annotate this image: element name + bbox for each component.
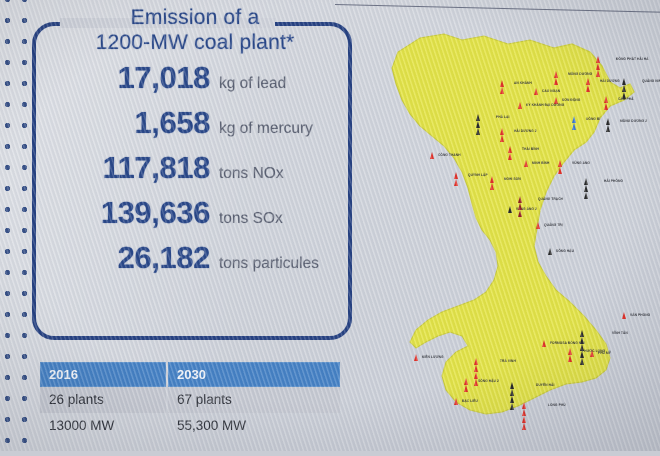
title-line-2: 1200-MW coal plant* <box>45 31 345 56</box>
plant-label: KỲ KHÁNH ĐẠI DƯƠNG <box>526 103 564 107</box>
plant-label: THÁI BÌNH <box>522 147 539 151</box>
dot-column-inner <box>21 0 28 456</box>
stat-row: 1,658 kg of mercury <box>36 105 351 141</box>
table-row: 26 plants 67 plants <box>40 387 340 413</box>
stat-value: 117,818 <box>102 150 210 186</box>
plant-label: HẢI DƯƠNG 2 <box>514 129 537 133</box>
plant-label: QUẢNG TRẠCH <box>538 197 563 201</box>
table-header-row: 2016 2030 <box>40 362 340 387</box>
plant-label: CẨM PHẢ <box>618 97 634 101</box>
plants-comparison-table: 2016 2030 26 plants 67 plants 13000 MW 5… <box>40 362 340 439</box>
table-cell-plants-2016: 26 plants <box>40 387 168 413</box>
plant-label: PHÚ MỸ <box>598 351 611 355</box>
plant-label: NGHI SƠN <box>504 177 521 181</box>
stat-unit: tons NOx <box>219 165 351 183</box>
plant-label: KIÊN LƯƠNG <box>422 355 444 359</box>
stat-value: 26,182 <box>118 240 210 276</box>
table-header-2016: 2016 <box>40 362 168 387</box>
stat-row: 117,818 tons NOx <box>36 150 351 186</box>
plant-label: VÂN PHONG <box>630 313 650 317</box>
vietnam-landmass <box>358 0 660 451</box>
stat-row: 139,636 tons SOx <box>36 195 351 231</box>
plant-label: CAO NGẠN <box>542 89 560 93</box>
plant-label: QUẢNG TRỊ <box>544 223 563 227</box>
stat-unit: tons particules <box>219 255 351 273</box>
plant-label: MÔNG DƯƠNG <box>568 72 592 76</box>
stat-value: 17,018 <box>118 60 210 96</box>
plant-label: SÔNG HẬU 2 <box>478 379 499 383</box>
table-row: 13000 MW 55,300 MW <box>40 413 340 439</box>
table-header-2030: 2030 <box>168 362 340 387</box>
plant-label: QUẢNG NINH <box>642 79 660 83</box>
emission-stat-list: 17,018 kg of lead 1,658 kg of mercury 11… <box>36 60 351 285</box>
plant-label: PHẢ LẠI <box>496 115 509 119</box>
plant-label: MÔNG DƯƠNG 2 <box>620 119 647 123</box>
plant-label: SÔNG HẬU <box>556 249 574 253</box>
plant-label: SƠN ĐỘNG <box>562 98 580 102</box>
page-title: Emission of a 1200-MW coal plant* <box>45 6 345 55</box>
vietnam-coal-plant-map: Greenpeace CHANGE 350.org LOTTE CHEMICAL… <box>358 0 660 451</box>
table-cell-capacity-2016: 13000 MW <box>40 413 168 439</box>
title-line-1: Emission of a <box>45 6 345 31</box>
plant-label: LONG PHÚ <box>548 403 566 407</box>
plant-label: CÔNG THANH <box>438 153 461 157</box>
plant-label: FORMOSA ĐỒNG NAI <box>550 341 585 345</box>
plant-label: ĐỒNG PHÁT HẢI HÀ <box>616 57 649 61</box>
plant-label: HẢI DƯƠNG <box>600 79 620 83</box>
plant-label: DUYÊN HẢI <box>536 383 554 387</box>
plant-label: VŨNG ÁNG <box>572 161 590 165</box>
stat-unit: kg of mercury <box>219 120 351 138</box>
stat-row: 26,182 tons particules <box>36 240 351 276</box>
stat-unit: tons SOx <box>219 210 351 228</box>
dot-column-outer <box>4 0 11 456</box>
stat-row: 17,018 kg of lead <box>36 60 351 96</box>
stat-value: 139,636 <box>101 195 210 231</box>
stat-unit: kg of lead <box>219 75 351 93</box>
plant-label: AN KHÁNH <box>514 81 532 85</box>
plant-label: QUỲNH LẬP <box>468 173 488 177</box>
table-cell-capacity-2030: 55,300 MW <box>168 413 340 439</box>
stat-value: 1,658 <box>134 105 210 141</box>
table-cell-plants-2030: 67 plants <box>168 387 340 413</box>
plant-label: NINH BÌNH <box>532 161 549 165</box>
plant-label: VĨNH TÂN <box>612 331 628 335</box>
plant-label: UÔNG BÍ <box>586 117 600 121</box>
plant-label: BẠC LIÊU <box>462 399 478 403</box>
plant-label: TRÀ VINH <box>500 359 516 363</box>
plant-label: HẢI PHÒNG <box>604 179 623 183</box>
